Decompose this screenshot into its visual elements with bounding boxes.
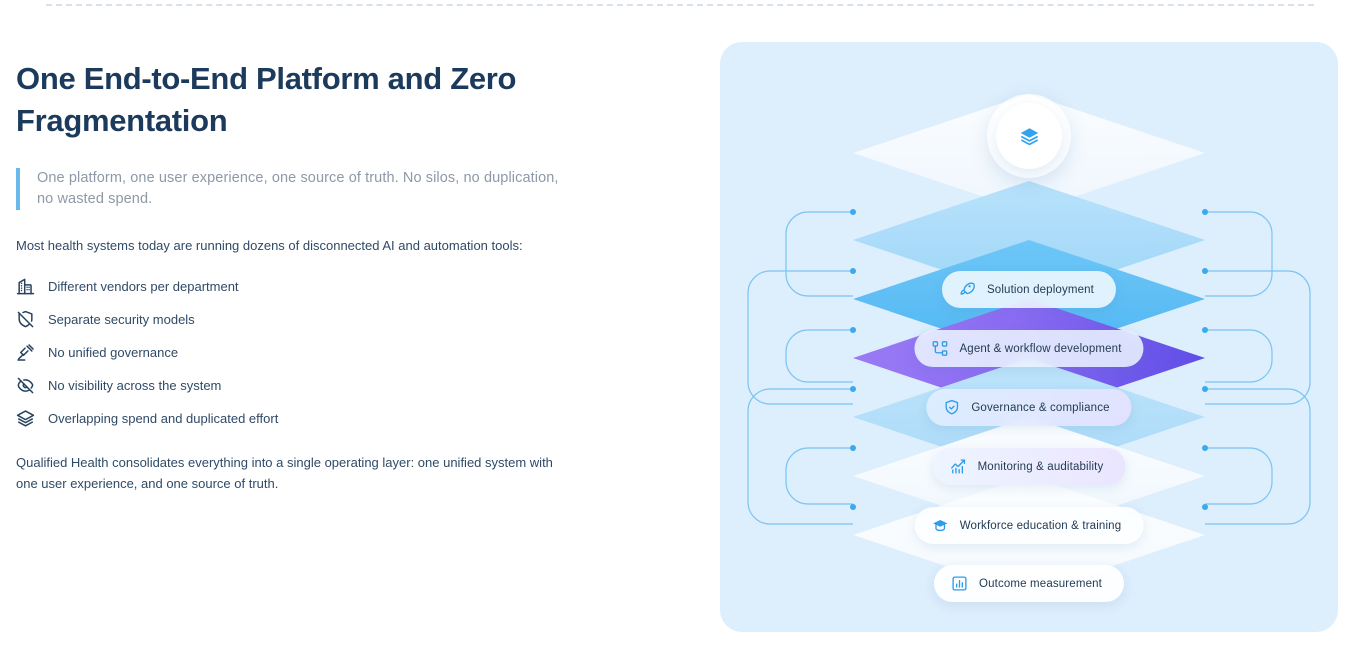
diagram-pill-label: Solution deployment — [987, 283, 1094, 297]
list-item-label: No visibility across the system — [48, 376, 221, 395]
list-item: Different vendors per department — [16, 272, 596, 300]
list-item: No visibility across the system — [16, 371, 596, 399]
list-item-label: No unified governance — [48, 343, 178, 362]
platform-hub-badge — [987, 94, 1071, 178]
platform-diagram-panel: Solution deployment Agent & workflow dev… — [720, 42, 1338, 632]
layers-icon — [16, 409, 35, 428]
top-divider — [46, 4, 1314, 6]
content-column: One End-to-End Platform and Zero Fragmen… — [16, 58, 596, 494]
rocket-icon — [959, 281, 976, 298]
workflow-icon — [931, 340, 948, 357]
page-root: One End-to-End Platform and Zero Fragmen… — [0, 0, 1360, 647]
diagram-pill-agent-workflow-development[interactable]: Agent & workflow development — [914, 330, 1143, 367]
diagram-pill-label: Outcome measurement — [979, 577, 1102, 591]
diagram-pill-label: Agent & workflow development — [959, 342, 1121, 356]
closing-paragraph: Qualified Health consolidates everything… — [16, 452, 571, 494]
lead-paragraph: Most health systems today are running do… — [16, 235, 576, 256]
page-title: One End-to-End Platform and Zero Fragmen… — [16, 58, 546, 142]
diagram-stage: Solution deployment Agent & workflow dev… — [720, 42, 1338, 632]
issue-list: Different vendors per department Separat… — [16, 272, 596, 432]
highlight-quote: One platform, one user experience, one s… — [16, 168, 561, 210]
shield-off-icon — [16, 310, 35, 329]
diagram-pill-outcome-measurement[interactable]: Outcome measurement — [934, 565, 1124, 602]
diagram-pill-solution-deployment[interactable]: Solution deployment — [942, 271, 1116, 308]
bar-chart-icon — [951, 575, 968, 592]
graduation-cap-icon — [932, 517, 949, 534]
diagram-pill-workforce-education-training[interactable]: Workforce education & training — [915, 507, 1144, 544]
quote-text: One platform, one user experience, one s… — [37, 168, 561, 210]
eye-off-icon — [16, 376, 35, 395]
diagram-pill-label: Governance & compliance — [971, 401, 1109, 415]
layers-icon — [1019, 126, 1040, 147]
list-item: Separate security models — [16, 305, 596, 333]
list-item-label: Different vendors per department — [48, 277, 239, 296]
diagram-pill-label: Monitoring & auditability — [978, 460, 1104, 474]
diagram-pill-label: Workforce education & training — [960, 519, 1122, 533]
diagram-pill-governance-compliance[interactable]: Governance & compliance — [926, 389, 1131, 426]
list-item: Overlapping spend and duplicated effort — [16, 404, 596, 432]
gavel-off-icon — [16, 343, 35, 362]
list-item: No unified governance — [16, 338, 596, 366]
diagram-pill-monitoring-auditability[interactable]: Monitoring & auditability — [933, 448, 1126, 485]
list-item-label: Overlapping spend and duplicated effort — [48, 409, 278, 428]
list-item-label: Separate security models — [48, 310, 195, 329]
shield-check-icon — [943, 399, 960, 416]
trending-chart-icon — [950, 458, 967, 475]
building-icon — [16, 277, 35, 296]
